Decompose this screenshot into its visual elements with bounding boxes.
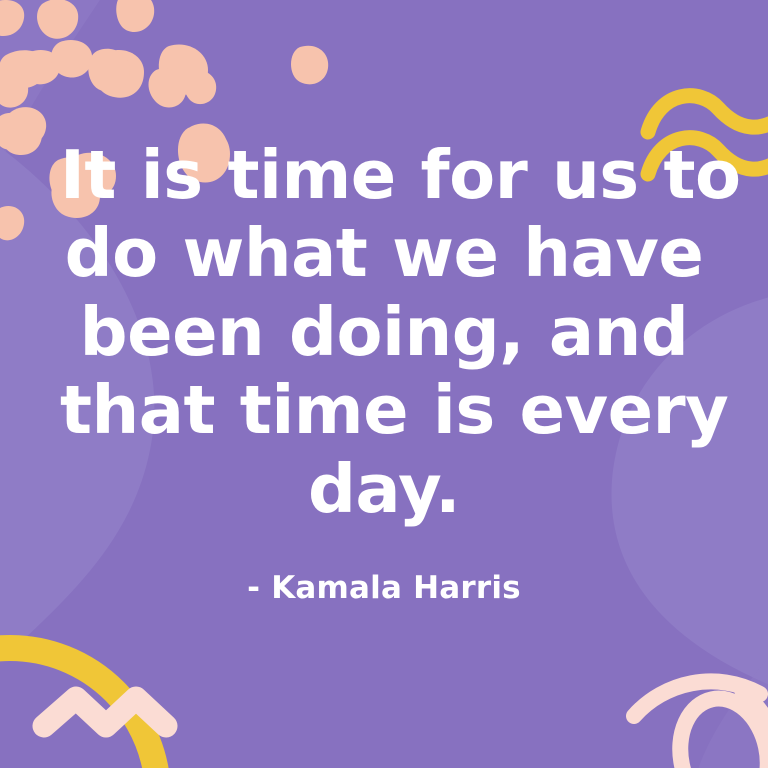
quote-line-1: It is time for us to — [60, 136, 708, 214]
quote-line-3: been doing, and — [60, 293, 708, 371]
quote-author: - Kamala Harris — [247, 570, 521, 606]
quote-line-2: do what we have — [60, 214, 708, 292]
quote-text: It is time for us to do what we have bee… — [60, 136, 708, 528]
quote-card: It is time for us to do what we have bee… — [0, 0, 768, 768]
quote-line-5: day. — [60, 450, 708, 528]
quote-content: It is time for us to do what we have bee… — [0, 0, 768, 768]
quote-line-4: that time is every — [60, 371, 708, 449]
